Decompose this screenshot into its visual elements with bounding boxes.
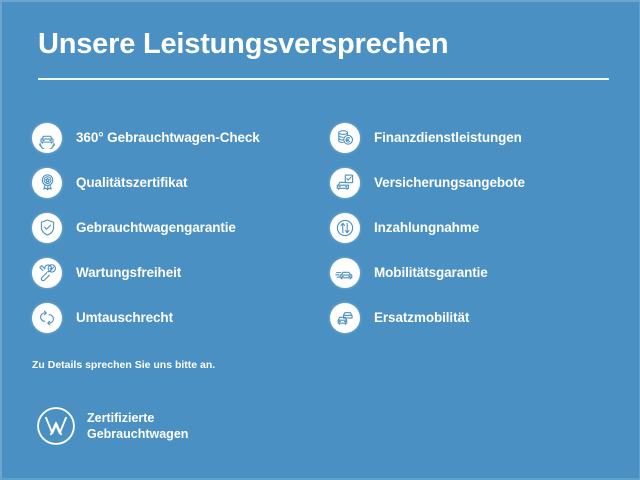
promise-label: Gebrauchtwagengarantie [76,220,236,235]
promise-item: Versicherungsangebote [330,160,525,205]
vw-logo-icon [35,405,77,447]
promise-item: Wartungsfreiheit [32,250,260,295]
car-document-icon [330,168,360,198]
promises-column-left: 360° Gebrauchtwagen-Check Qualitätszerti… [32,115,260,340]
promise-label: Finanzdienstleistungen [374,130,522,145]
promise-label: Umtauschrecht [76,310,173,325]
award-rosette-icon [32,168,62,198]
logo-wordmark: Zertifizierte Gebrauchtwagen [87,410,188,442]
promise-label: Versicherungsangebote [374,175,525,190]
page-title: Unsere Leistungsversprechen [38,28,448,61]
promise-label: Wartungsfreiheit [76,265,181,280]
two-cars-icon [330,303,360,333]
car-360-check-icon [32,123,62,153]
promise-item: Ersatzmobilität [330,295,525,340]
title-divider [38,78,609,80]
up-down-arrows-icon [330,213,360,243]
promise-label: Qualitätszertifikat [76,175,187,190]
promise-item: Finanzdienstleistungen [330,115,525,160]
coins-euro-icon [330,123,360,153]
promise-item: 360° Gebrauchtwagen-Check [32,115,260,160]
promise-item: Gebrauchtwagengarantie [32,205,260,250]
promise-label: 360° Gebrauchtwagen-Check [76,130,260,145]
logo-line-2: Gebrauchtwagen [87,427,188,441]
exchange-arrows-icon [32,303,62,333]
promise-label: Ersatzmobilität [374,310,469,325]
car-speed-icon [330,258,360,288]
shield-check-icon [32,213,62,243]
wrench-check-icon [32,258,62,288]
vw-certified-logo: Zertifizierte Gebrauchtwagen [35,405,188,447]
promise-item: Qualitätszertifikat [32,160,260,205]
promise-item: Inzahlungnahme [330,205,525,250]
promise-item: Umtauschrecht [32,295,260,340]
promise-label: Mobilitätsgarantie [374,265,488,280]
logo-line-1: Zertifizierte [87,411,154,425]
promise-label: Inzahlungnahme [374,220,479,235]
footnote-text: Zu Details sprechen Sie uns bitte an. [32,359,215,371]
promise-item: Mobilitätsgarantie [330,250,525,295]
promises-column-right: Finanzdienstleistungen Versicherungsange… [330,115,525,340]
promise-slide: Unsere Leistungsversprechen 360° Ge [0,0,640,480]
